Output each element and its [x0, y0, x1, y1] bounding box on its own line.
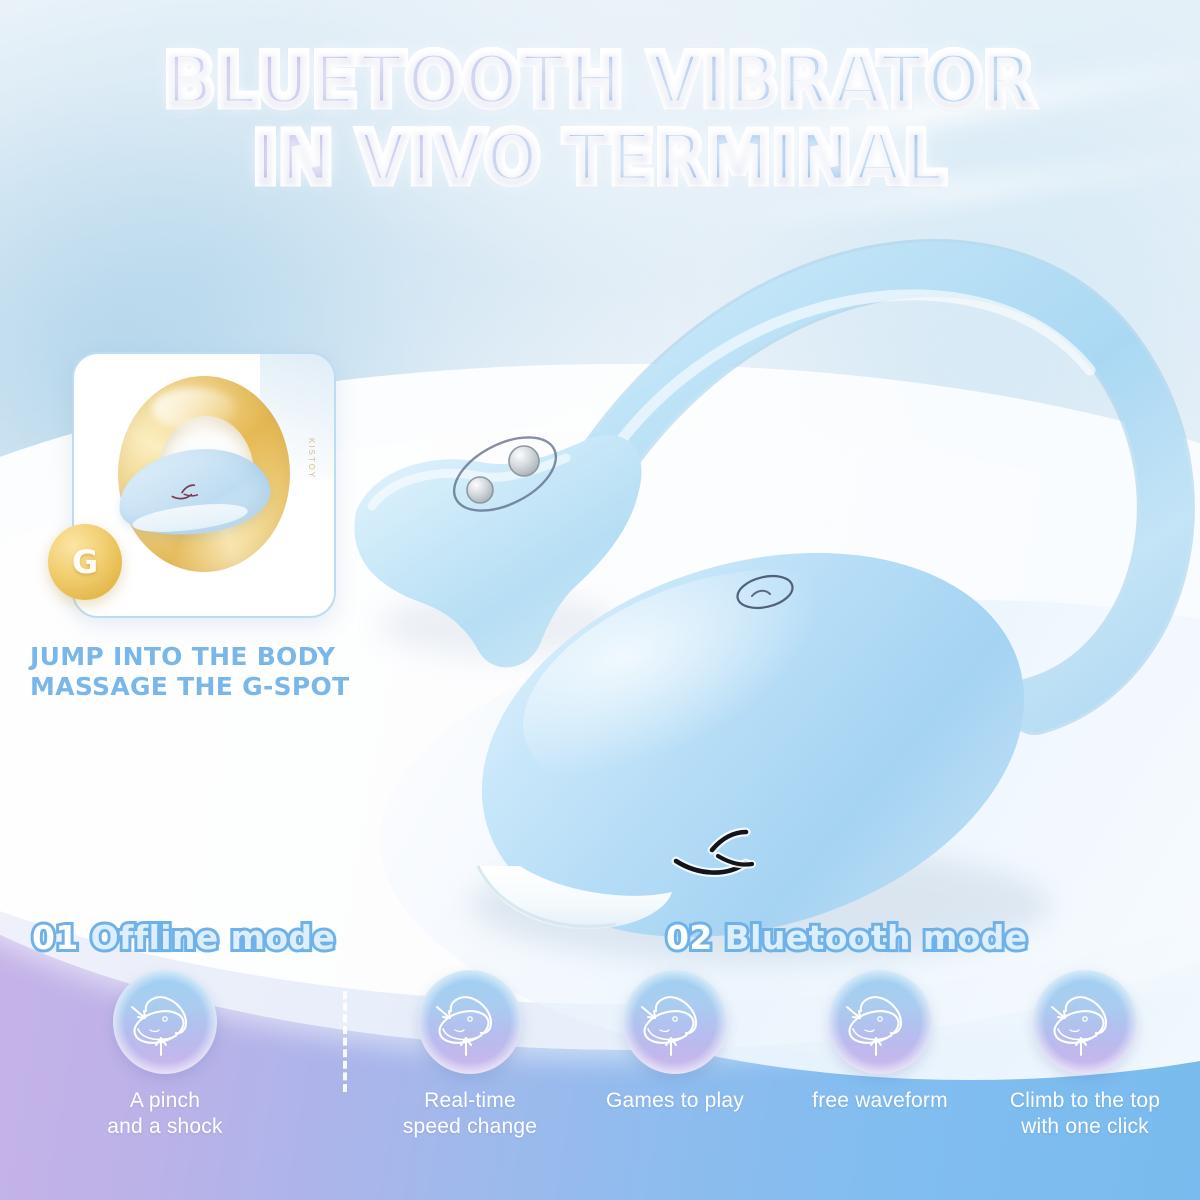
inset-caption-line-1: JUMP INTO THE BODY [30, 642, 420, 672]
feature-item-games: Games to play [580, 970, 770, 1114]
g-spot-badge-letter: G [72, 543, 98, 581]
vibrator-egg-arrows-icon [1033, 970, 1137, 1074]
feature-label-line-1: Real-time [424, 1089, 516, 1112]
feature-row: A pinch and a shock Real-tim [0, 970, 1200, 1200]
inset-brand-text: KISTOY [307, 438, 316, 479]
feature-label-games: Games to play [580, 1088, 770, 1114]
feature-label-line-2: and a shock [107, 1115, 222, 1138]
feature-label-pinch-shock: A pinch and a shock [70, 1088, 260, 1141]
feature-label-speed-change: Real-time speed change [375, 1088, 565, 1141]
feature-label-line-1: A pinch [130, 1089, 200, 1112]
feature-label-line-2: speed change [403, 1115, 537, 1138]
feature-label-line-2: with one click [1021, 1115, 1149, 1138]
title-line-2-text: IN VIVO TERMINAL [254, 117, 947, 199]
mode-label-offline: 01 Offline mode [32, 918, 335, 957]
feature-item-pinch-shock: A pinch and a shock [70, 970, 260, 1141]
title-line-1-text: BLUETOOTH VIBRATOR [164, 38, 1035, 122]
g-spot-badge: G [48, 524, 122, 600]
feature-item-speed-change: Real-time speed change [375, 970, 565, 1141]
feature-label-line-1: Games to play [606, 1089, 744, 1112]
feature-label-climb-top: Climb to the top with one click [990, 1088, 1180, 1141]
vibrator-egg-arrows-icon [623, 970, 727, 1074]
page-title: BLUETOOTH VIBRATOR IN VIVO TERMINAL [0, 44, 1200, 195]
mode-number-01: 01 [32, 918, 79, 957]
inset-caption: JUMP INTO THE BODY MASSAGE THE G-SPOT [30, 642, 420, 701]
inset-caption-line-2: MASSAGE THE G-SPOT [30, 672, 420, 702]
feature-item-free-waveform: free waveform [785, 970, 975, 1114]
title-line-2: IN VIVO TERMINAL [0, 123, 1200, 194]
feature-item-climb-top: Climb to the top with one click [990, 970, 1180, 1141]
mode-number-02: 02 [666, 918, 713, 957]
mode-name-bluetooth: Bluetooth mode [725, 918, 1028, 957]
mode-label-bluetooth: 02 Bluetooth mode [666, 918, 1028, 957]
product-marketing-poster: BLUETOOTH VIBRATOR IN VIVO TERMINAL [0, 0, 1200, 1200]
vibrator-egg-arrows-icon [113, 970, 217, 1074]
feature-label-line-1: free waveform [812, 1089, 948, 1112]
mode-name-offline: Offline mode [91, 918, 336, 957]
ring-gloss [152, 388, 236, 430]
title-line-1: BLUETOOTH VIBRATOR [0, 44, 1200, 117]
vibrator-egg-arrows-icon [828, 970, 932, 1074]
feature-label-free-waveform: free waveform [785, 1088, 975, 1114]
vibrator-egg-arrows-icon [418, 970, 522, 1074]
feature-label-line-1: Climb to the top [1010, 1089, 1160, 1112]
